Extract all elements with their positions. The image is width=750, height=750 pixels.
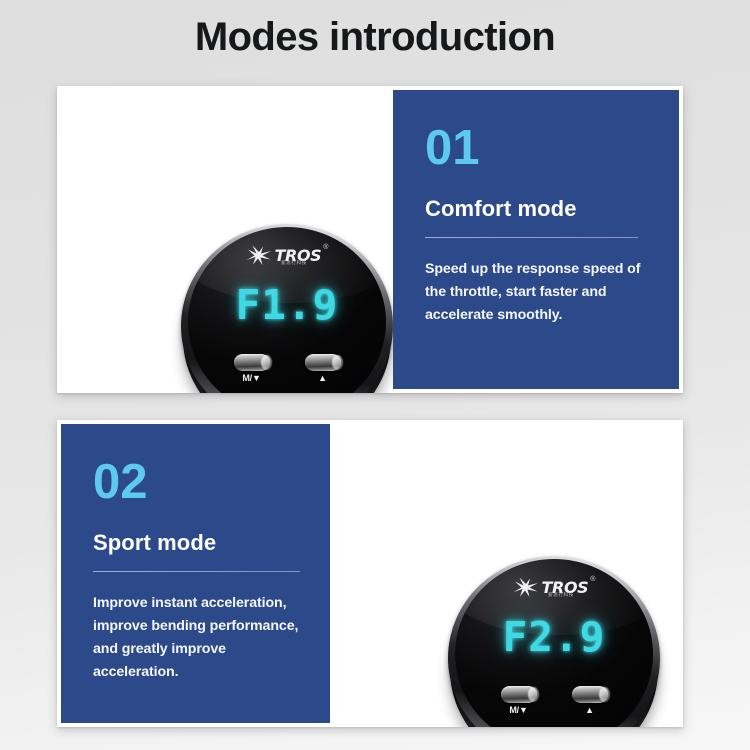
up-button-cap[interactable]	[572, 686, 608, 703]
device-face: TROS ® 爱思行科技 F2.9 M/▼ ▲	[455, 559, 653, 727]
section-divider	[93, 571, 300, 572]
registered-mark-icon: ®	[590, 576, 595, 583]
mode-info-pane-sport: 02 Sport mode Improve instant accelerati…	[61, 424, 330, 723]
mode-number-02: 02	[93, 458, 300, 507]
mode-info-pane-comfort: 01 Comfort mode Speed up the response sp…	[393, 90, 679, 389]
registered-mark-icon: ®	[323, 244, 328, 251]
mode-down-button-label: M/▼	[509, 706, 527, 715]
brand-subtitle: 爱思行科技	[188, 260, 386, 266]
up-button-label: ▲	[318, 374, 327, 383]
throttle-controller-device-comfort: TROS ® 爱思行科技 F1.9 M/▼ ▲	[181, 222, 393, 393]
mode-name-comfort: Comfort mode	[425, 196, 649, 222]
up-button[interactable]: ▲	[305, 354, 341, 383]
device-image-pane-sport: TROS ® 爱思行科技 F2.9 M/▼ ▲	[330, 420, 683, 727]
mode-description-comfort: Speed up the response speed of the throt…	[425, 258, 649, 327]
up-button-label: ▲	[585, 706, 594, 715]
device-button-row: M/▼ ▲	[455, 686, 653, 715]
mode-card-sport: 02 Sport mode Improve instant accelerati…	[57, 420, 683, 727]
led-display-comfort: F1.9	[188, 281, 386, 329]
mode-down-button[interactable]: M/▼	[234, 354, 270, 383]
device-face: TROS ® 爱思行科技 F1.9 M/▼ ▲	[188, 227, 386, 393]
mode-down-button-label: M/▼	[242, 374, 260, 383]
page-title: Modes introduction	[0, 15, 750, 60]
up-button-cap[interactable]	[305, 354, 341, 371]
device-image-pane-comfort: TROS ® 爱思行科技 F1.9 M/▼ ▲	[57, 86, 393, 393]
mode-description-sport: Improve instant acceleration, improve be…	[93, 592, 300, 685]
mode-number-01: 01	[425, 124, 649, 173]
mode-name-sport: Sport mode	[93, 530, 300, 556]
mode-down-button-cap[interactable]	[501, 686, 537, 703]
section-divider	[425, 237, 638, 238]
up-button[interactable]: ▲	[572, 686, 608, 715]
led-display-sport: F2.9	[455, 613, 653, 661]
mode-card-comfort: TROS ® 爱思行科技 F1.9 M/▼ ▲ 01	[57, 86, 683, 393]
device-button-row: M/▼ ▲	[188, 354, 386, 383]
mode-down-button[interactable]: M/▼	[501, 686, 537, 715]
throttle-controller-device-sport: TROS ® 爱思行科技 F2.9 M/▼ ▲	[448, 554, 660, 727]
brand-subtitle: 爱思行科技	[455, 592, 653, 598]
mode-down-button-cap[interactable]	[234, 354, 270, 371]
